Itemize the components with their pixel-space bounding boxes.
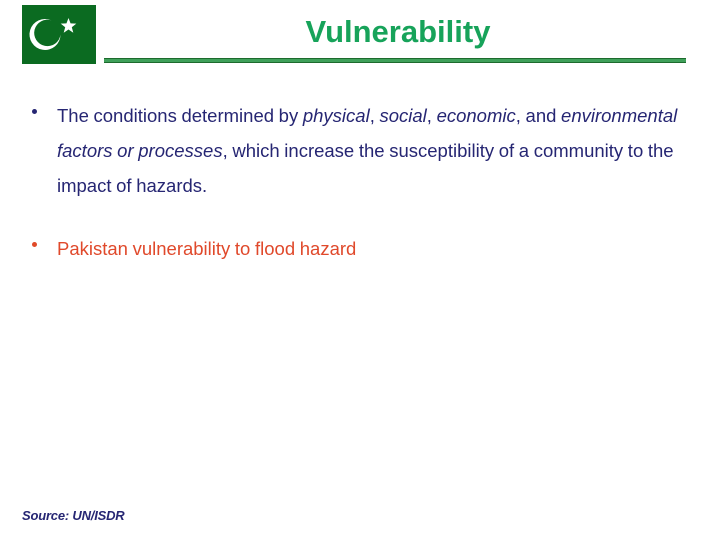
bullet-marker-icon xyxy=(32,242,37,247)
divider-line-bottom xyxy=(104,62,686,63)
plain-text: The conditions determined by xyxy=(57,105,303,126)
slide-canvas: Vulnerability The conditions determined … xyxy=(0,0,720,540)
star-icon xyxy=(61,18,77,33)
crescent-icon xyxy=(30,19,61,50)
flag-emblem xyxy=(22,5,96,64)
plain-text: , xyxy=(427,105,437,126)
source-attribution: Source: UN/ISDR xyxy=(22,508,124,523)
emphasis-text: economic xyxy=(437,105,516,126)
plain-text: , xyxy=(370,105,380,126)
list-item: The conditions determined by physical, s… xyxy=(26,98,694,203)
bullet-marker-icon xyxy=(32,109,37,114)
title-divider xyxy=(104,58,686,64)
page-title: Vulnerability xyxy=(110,13,686,51)
pakistan-flag-logo xyxy=(22,5,96,64)
plain-text: , and xyxy=(516,105,561,126)
list-item-text: Pakistan vulnerability to flood hazard xyxy=(57,231,694,266)
list-item: Pakistan vulnerability to flood hazard xyxy=(26,231,694,266)
emphasis-text: social xyxy=(379,105,426,126)
list-item-text: The conditions determined by physical, s… xyxy=(57,98,694,203)
plain-text: Pakistan vulnerability to flood hazard xyxy=(57,238,356,259)
emphasis-text: physical xyxy=(303,105,370,126)
content-body: The conditions determined by physical, s… xyxy=(26,98,694,284)
